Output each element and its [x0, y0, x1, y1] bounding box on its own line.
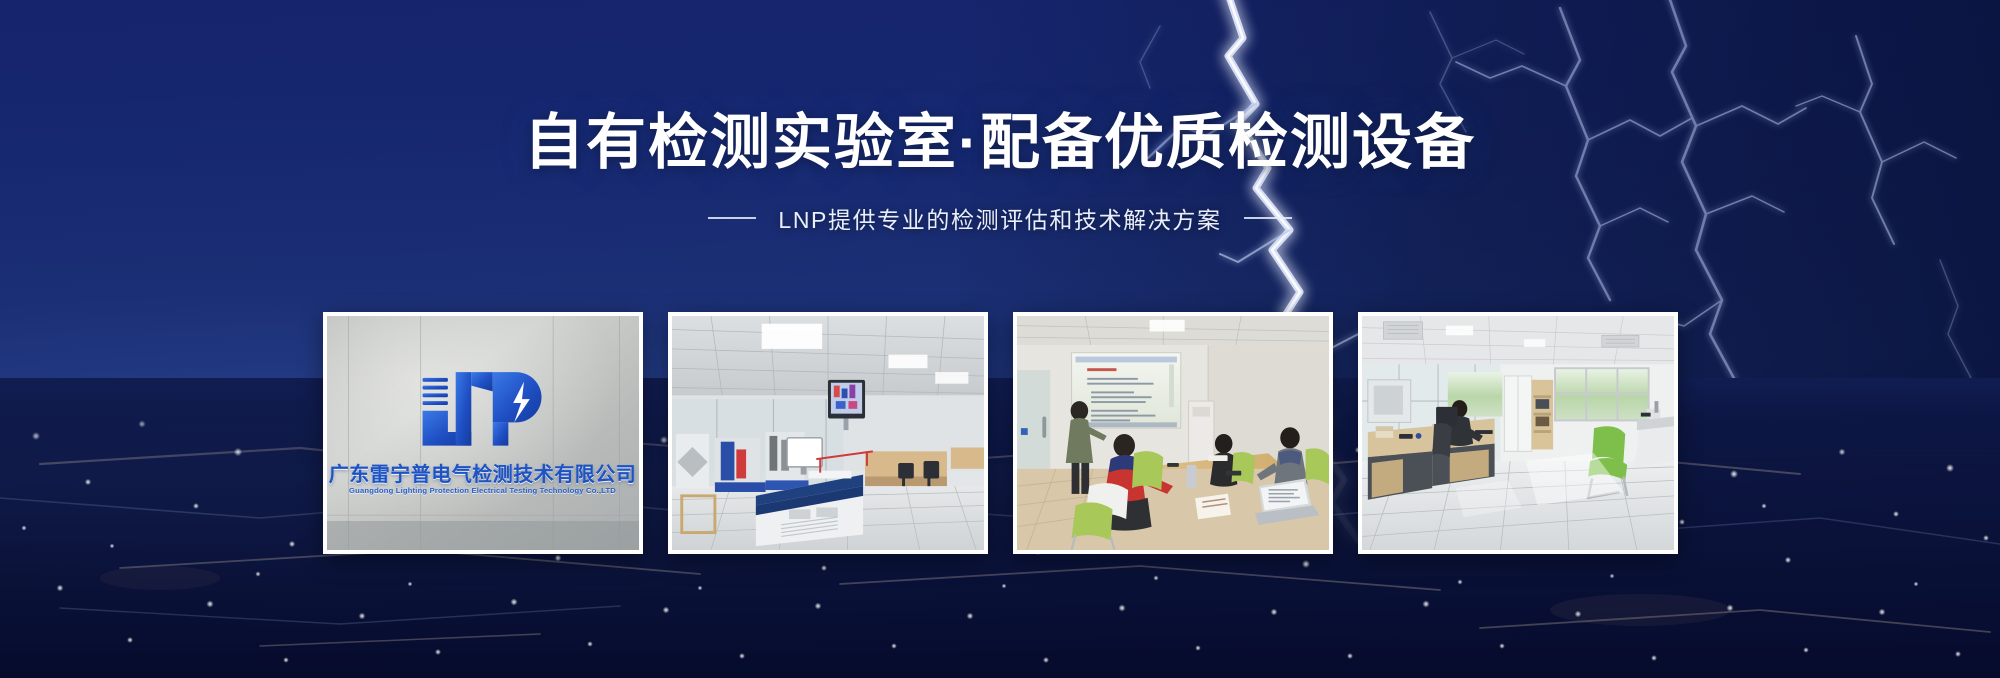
headline-block: 自有检测实验室·配备优质检测设备 LNP提供专业的检测评估和技术解决方案 — [0, 108, 2000, 235]
photo-company-logo-wall: 广东雷宁普电气检测技术有限公司 Guangdong Lighting Prote… — [327, 316, 639, 550]
hero-banner: 自有检测实验室·配备优质检测设备 LNP提供专业的检测评估和技术解决方案 — [0, 0, 2000, 678]
photo-training-meeting-room — [1017, 316, 1329, 550]
photo-card-company-logo-wall[interactable]: 广东雷宁普电气检测技术有限公司 Guangdong Lighting Prote… — [323, 312, 643, 554]
left-rule-icon — [708, 217, 756, 219]
photo-office-workspace — [1362, 316, 1674, 550]
photo-card-office-workspace[interactable] — [1358, 312, 1678, 554]
logo-caption-chinese: 广东雷宁普电气检测技术有限公司 — [329, 458, 637, 487]
page-subtitle: LNP提供专业的检测评估和技术解决方案 — [778, 201, 1221, 235]
photo-card-testing-laboratory[interactable] — [668, 312, 988, 554]
photo-gallery-strip: 广东雷宁普电气检测技术有限公司 Guangdong Lighting Prote… — [0, 312, 2000, 554]
photo-card-training-meeting-room[interactable] — [1013, 312, 1333, 554]
subtitle-row: LNP提供专业的检测评估和技术解决方案 — [0, 201, 2000, 235]
logo-caption-english: Guangdong Lighting Protection Electrical… — [349, 486, 616, 495]
photo-testing-laboratory — [672, 316, 984, 550]
right-rule-icon — [1244, 217, 1292, 219]
page-title: 自有检测实验室·配备优质检测设备 — [0, 108, 2000, 179]
